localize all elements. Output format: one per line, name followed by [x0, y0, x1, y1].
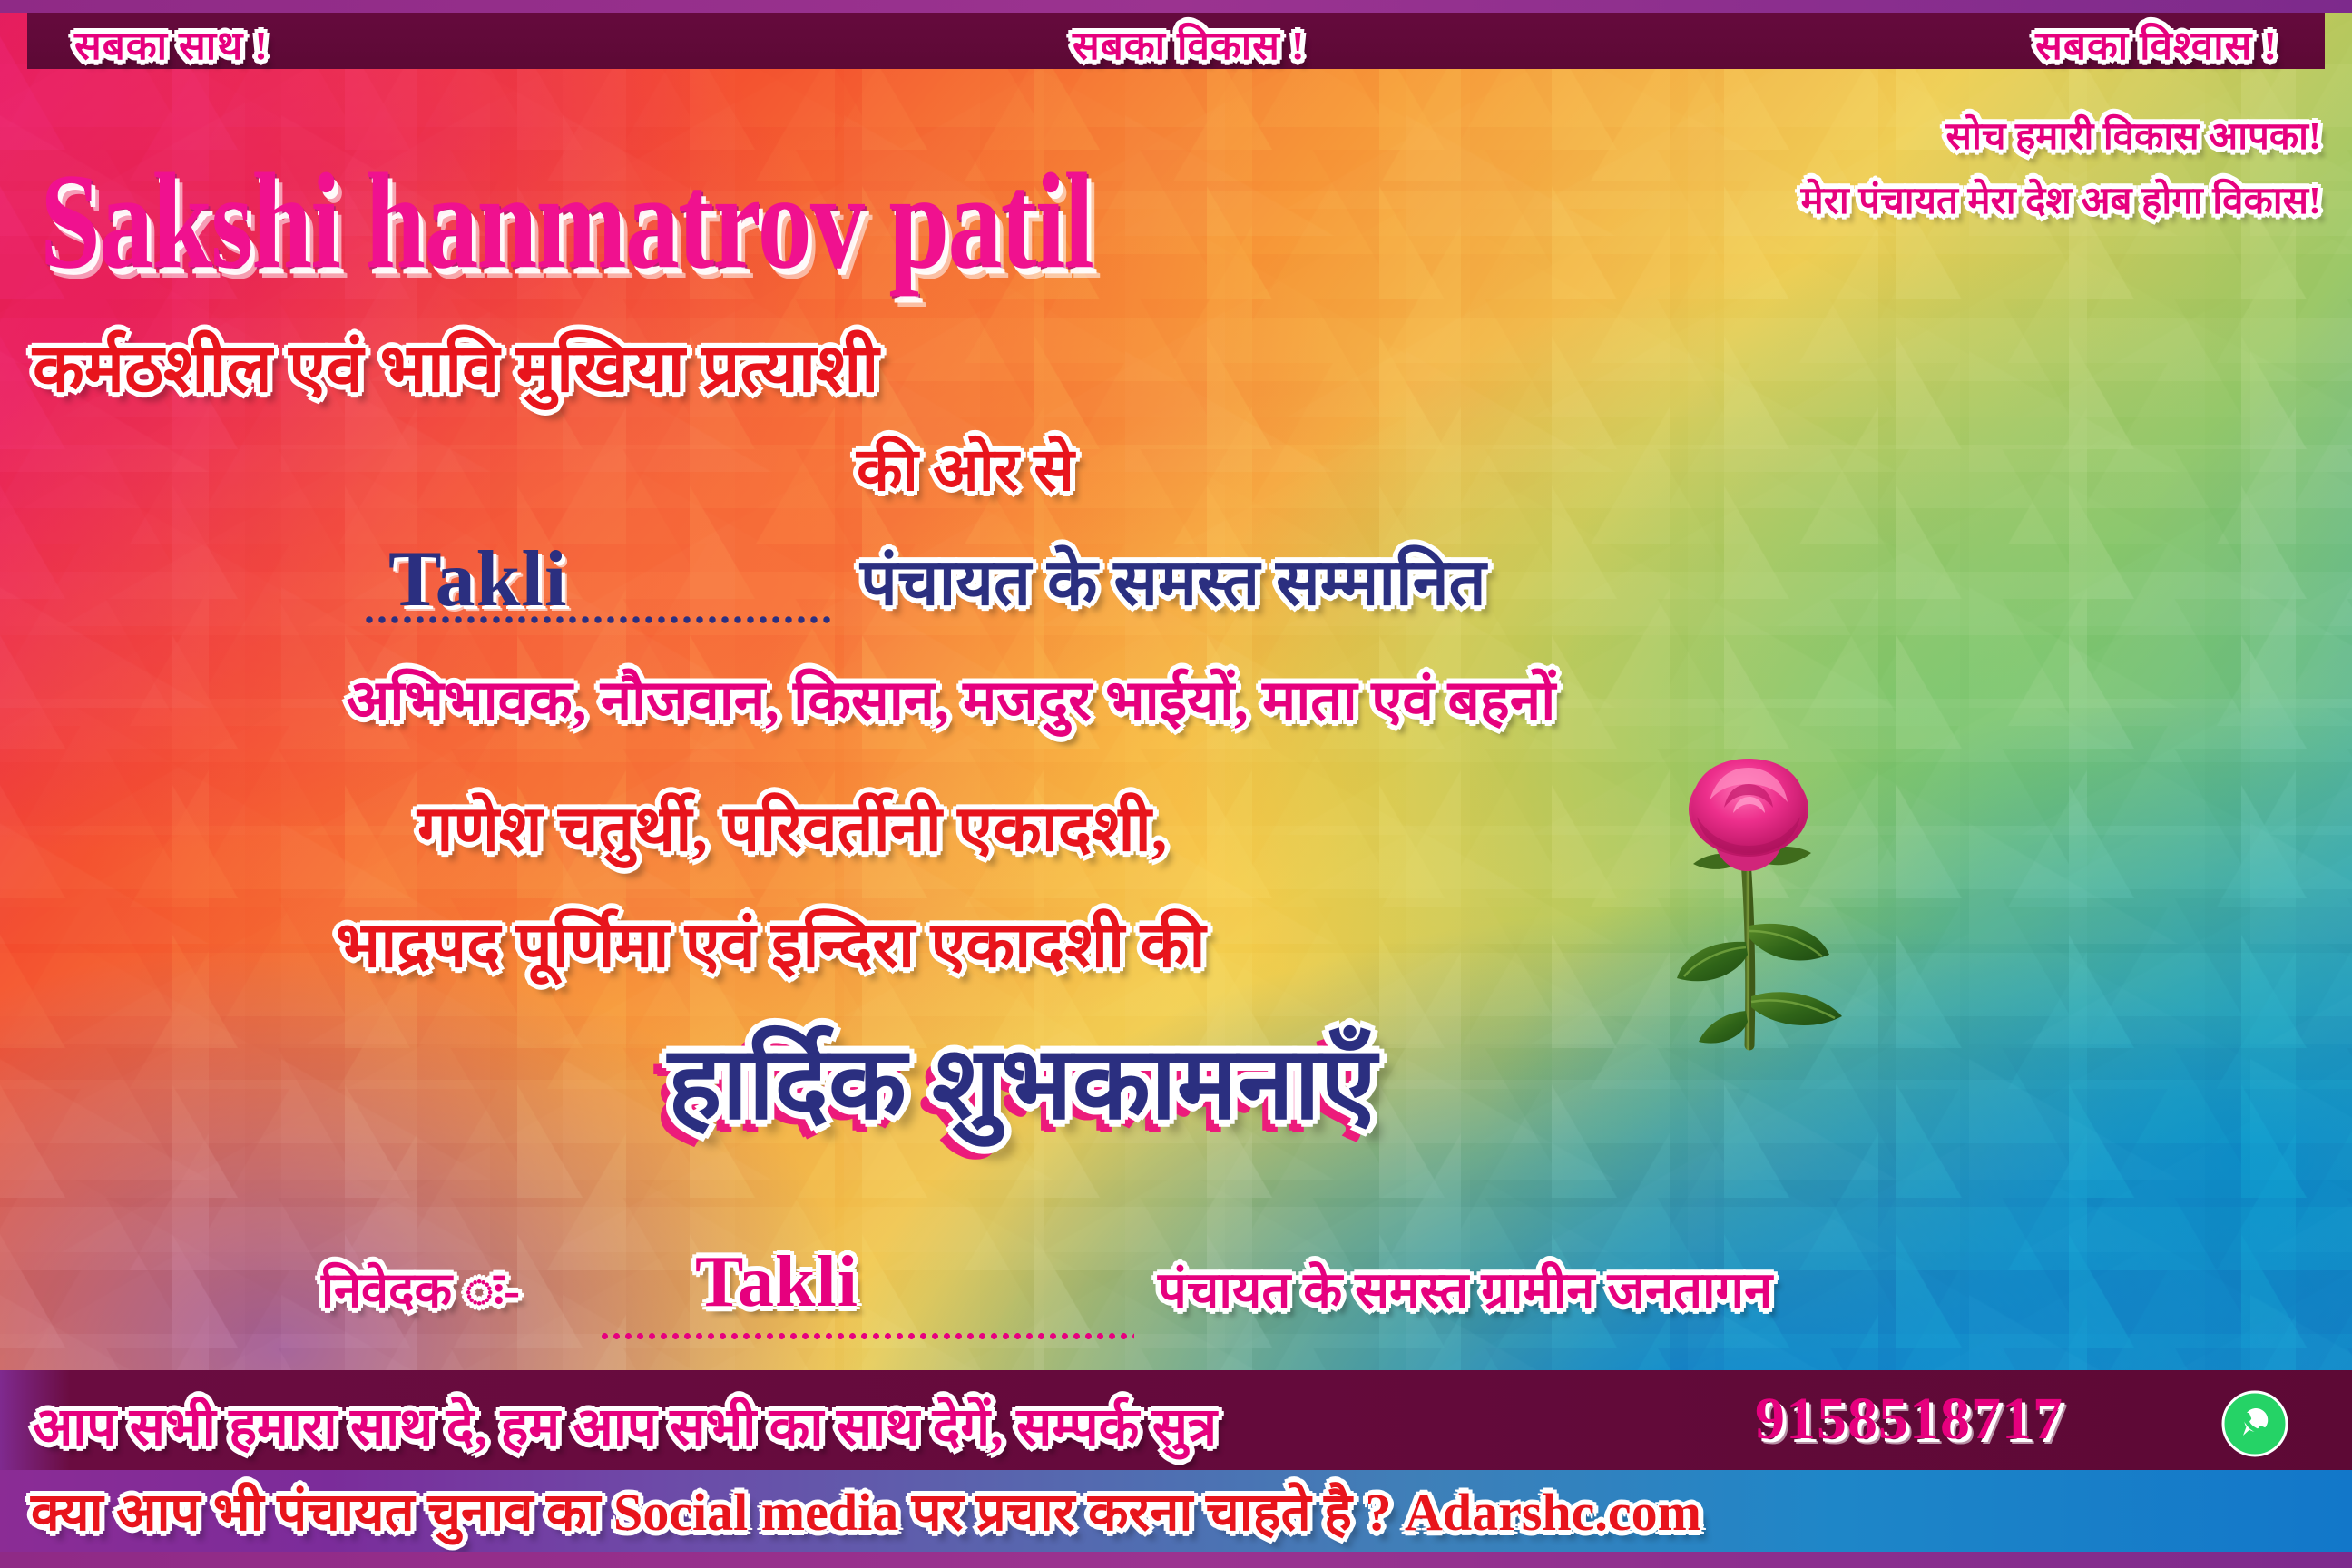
audience-line: अभिभावक, नौजवान, किसान, मजदुर भाईयों, मा… [347, 661, 1555, 737]
candidate-name: Sakshi hanmatrov patil [40, 152, 1093, 289]
festival-line-1: गणेश चतुर्थी, परिवर्तीनी एकादशी, [417, 782, 1167, 869]
from-villagers-line: पंचायत के समस्त ग्रामीन जनतागन [1158, 1254, 1772, 1323]
slogan-sabka-vishwas: सबका विश्वास ! [2035, 16, 2278, 71]
slogan-sabka-vikas: सबका विकास ! [1073, 16, 1306, 71]
promotion-message[interactable]: क्या आप भी पंचायत चुनाव का Social media … [31, 1474, 1701, 1545]
whatsapp-icon[interactable] [2221, 1390, 2288, 1457]
right-slogan-line2: मेरा पंचायत मेरा देश अब होगा विकास! [1801, 173, 2321, 225]
right-slogan-block: सोच हमारी विकास आपका! मेरा पंचायत मेरा द… [1801, 109, 2321, 225]
rose-flower-icon [1633, 753, 1869, 1062]
support-message: आप सभी हमारा साथ दे, हम आप सभी का साथ दे… [33, 1388, 1217, 1460]
bottom-edge-strip [0, 1552, 2352, 1568]
festival-line-2: भाद्रपद पूर्णिमा एवं इन्दिरा एकादशी की [336, 898, 1206, 985]
respected-line: पंचायत के समस्त सम्मानित [860, 535, 1486, 624]
candidate-designation: कर्मठशील एवं भावि मुखिया प्रत्याशी [33, 319, 878, 411]
bottom-banner: आप सभी हमारा साथ दे, हम आप सभी का साथ दे… [0, 1370, 2352, 1568]
panchayat-name-bottom: Takli [695, 1241, 858, 1324]
slogan-sabka-saath: सबका साथ ! [74, 16, 269, 71]
greeting-poster: सबका साथ ! सबका विकास ! सबका विश्वास ! स… [0, 0, 2352, 1568]
top-edge-strip [0, 0, 2352, 13]
panchayat-name-underline-dots [363, 615, 835, 624]
bottom-banner-row-1: आप सभी हमारा साथ दे, हम आप सभी का साथ दे… [0, 1370, 2352, 1470]
contact-phone-number[interactable]: 9158518717 [1755, 1385, 2063, 1454]
nivedak-label: निवेदक ः- [321, 1254, 520, 1321]
right-slogan-line1: सोच हमारी विकास आपका! [1801, 109, 2321, 161]
panchayat-name-bottom-underline-dots [599, 1332, 1134, 1340]
on-behalf-of-label: की ओर से [857, 426, 1074, 508]
panchayat-name-top: Takli [388, 534, 567, 625]
top-banner: सबका साथ ! सबका विकास ! सबका विश्वास ! [27, 13, 2325, 69]
greeting-text: हार्दिक शुभकामनाएँ [668, 1009, 1377, 1148]
bottom-banner-row-2: क्या आप भी पंचायत चुनाव का Social media … [0, 1470, 2352, 1552]
